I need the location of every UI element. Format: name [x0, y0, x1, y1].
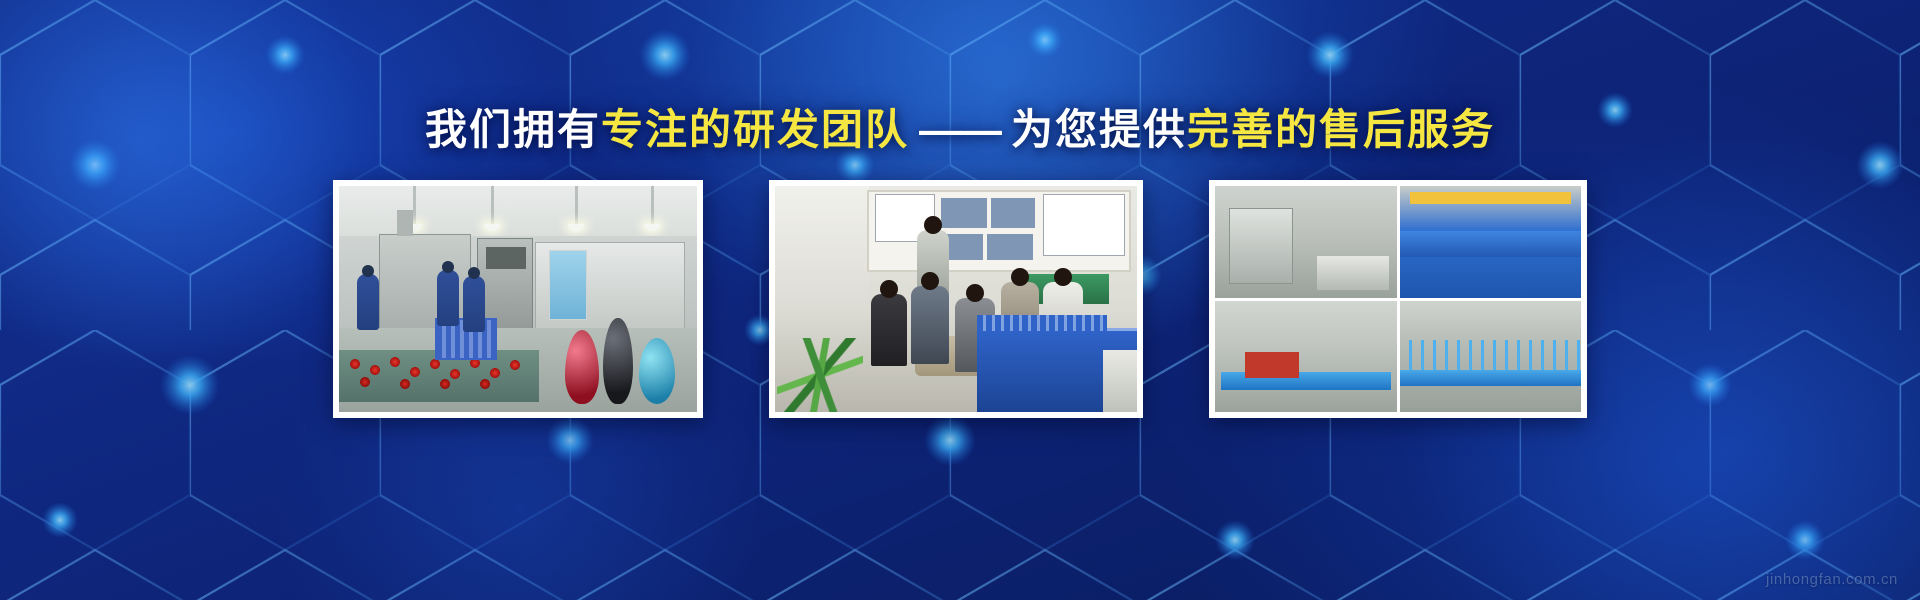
- headline-segment-3: 为您提供: [1011, 106, 1187, 153]
- factory-worker: [463, 276, 485, 332]
- person-seated: [871, 294, 907, 366]
- photo-production-line-image: [339, 186, 697, 412]
- ceiling-beam: [491, 186, 494, 226]
- ceiling-beam: [575, 186, 578, 226]
- ceiling-beam: [413, 186, 416, 226]
- person-seated: [911, 286, 949, 364]
- board-poster: [1043, 194, 1125, 256]
- black-glass-vase: [603, 318, 633, 404]
- equipment-model: [977, 328, 1137, 412]
- board-photo: [941, 198, 987, 228]
- potted-plant: [777, 338, 863, 412]
- headline-segment-4: 完善的售后服务: [1187, 106, 1495, 153]
- blue-glass-vase: [639, 338, 675, 404]
- equipment-quadrant-top-right: [1400, 186, 1582, 298]
- promo-banner: 我们拥有专注的研发团队——为您提供完善的售后服务: [0, 0, 1920, 600]
- factory-worker: [357, 274, 379, 330]
- photo-production-line: [333, 180, 703, 418]
- oven-stack: [397, 210, 413, 236]
- photo-equipment-grid: [1209, 180, 1587, 418]
- equipment-quadrant-bottom-left: [1215, 301, 1397, 413]
- photo-equipment-grid-image: [1215, 186, 1581, 412]
- equipment-quadrant-top-left: [1215, 186, 1397, 298]
- headline-segment-2: 专注的研发团队: [601, 106, 909, 153]
- headline-container: 我们拥有专注的研发团队——为您提供完善的售后服务: [0, 78, 1920, 183]
- photo-gallery: [0, 180, 1920, 418]
- ceiling-beam: [651, 186, 654, 226]
- photo-team-meeting: [769, 180, 1143, 418]
- equipment-quadrant-bottom-right: [1400, 301, 1582, 413]
- factory-worker: [437, 270, 459, 326]
- board-photo: [991, 198, 1035, 228]
- red-glass-spheres: [343, 354, 539, 394]
- headline-dash: ——: [909, 106, 1011, 153]
- headline-segment-1: 我们拥有: [425, 106, 601, 153]
- site-watermark: jinhongfan.com.cn: [1766, 571, 1898, 588]
- page-title: 我们拥有专注的研发团队——为您提供完善的售后服务: [425, 106, 1495, 154]
- cabinet-window: [549, 250, 587, 320]
- board-photo: [987, 234, 1033, 260]
- photo-team-meeting-image: [775, 186, 1137, 412]
- meeting-room-wall: [775, 186, 869, 306]
